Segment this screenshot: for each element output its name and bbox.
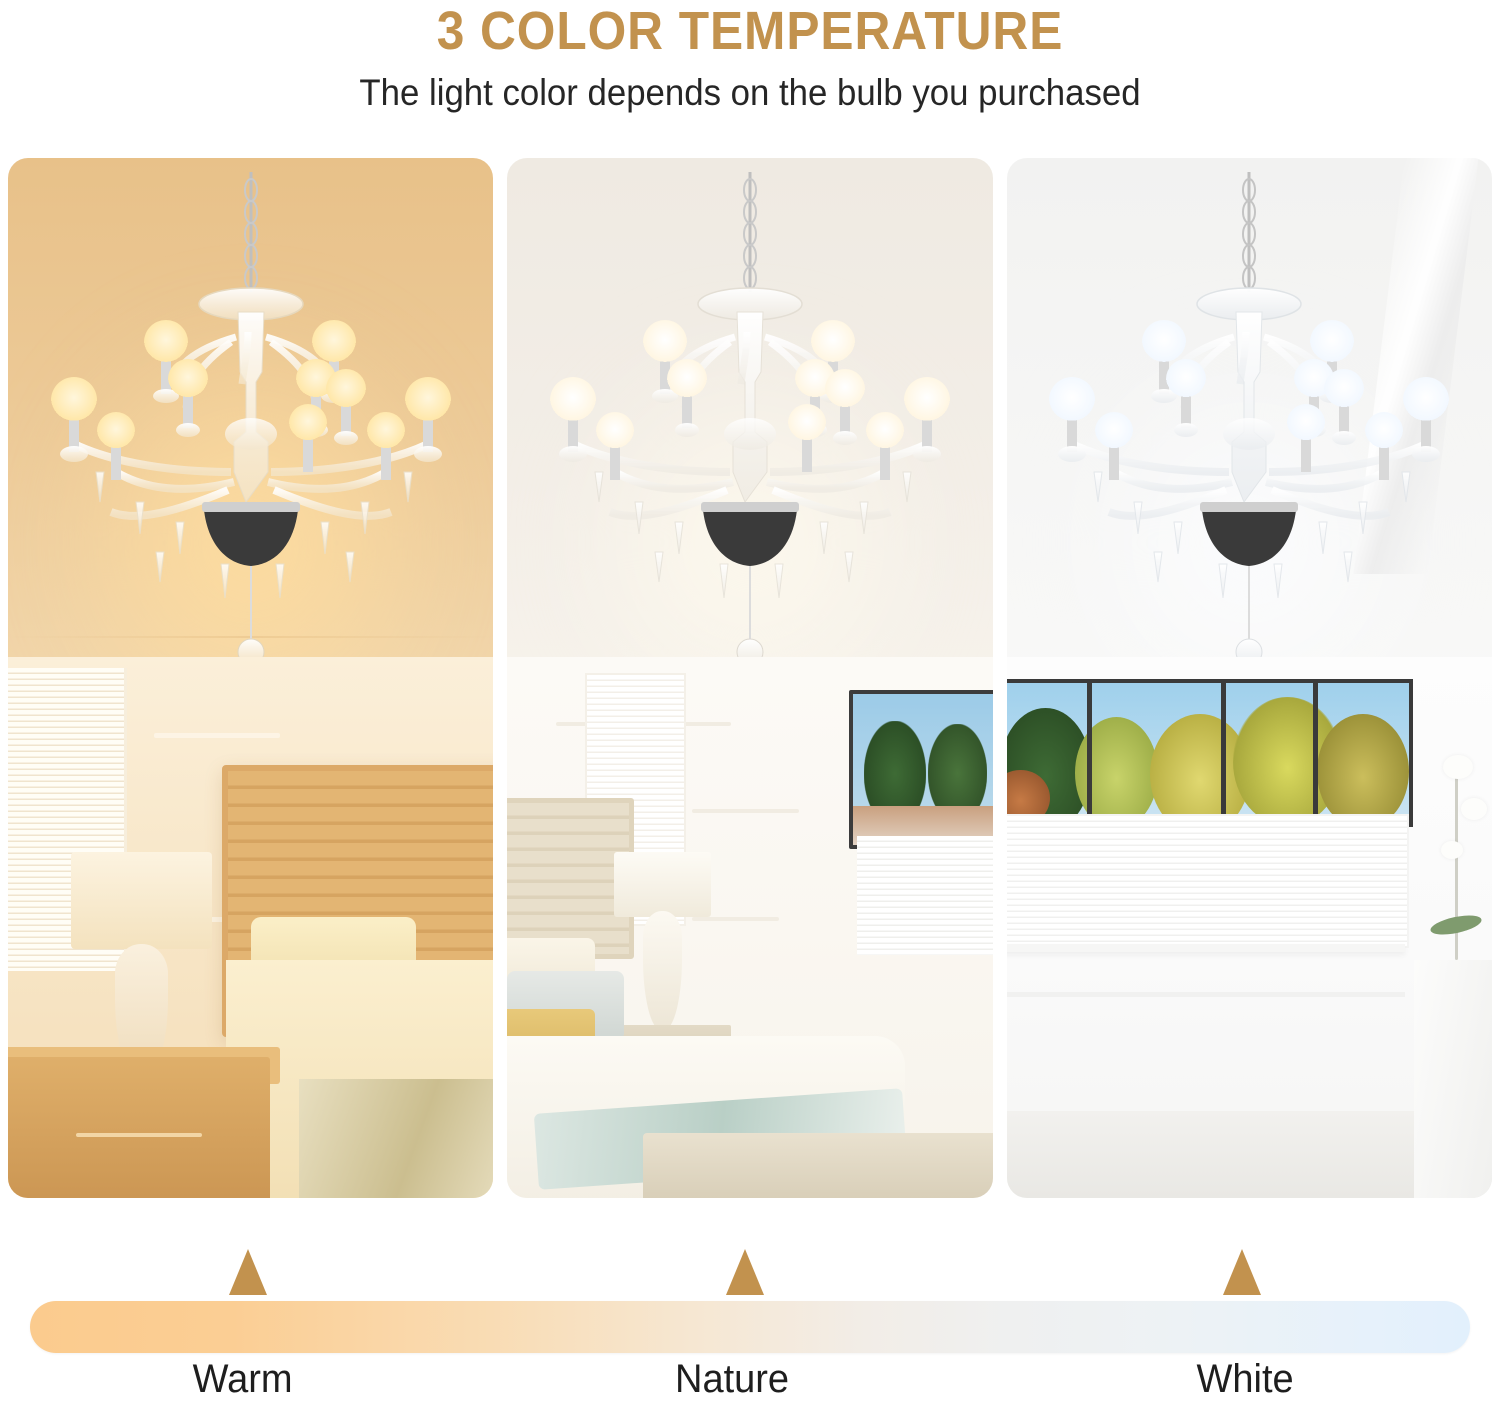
- panel-white: [1007, 158, 1492, 1198]
- nature-bench: [643, 1133, 992, 1198]
- warm-room: [8, 657, 493, 1198]
- white-window-mullion: [1313, 683, 1318, 824]
- panel-warm: [8, 158, 493, 1198]
- chandelier-warm: [16, 172, 486, 737]
- color-temperature-spectrum-bar: [30, 1301, 1470, 1353]
- marker-warm-icon: [229, 1249, 267, 1295]
- white-orchid-flower: [1443, 755, 1473, 779]
- white-room: [1007, 657, 1492, 1198]
- white-window-mullion: [1221, 683, 1226, 824]
- panel-nature: [507, 158, 992, 1198]
- white-cellular-blind: [1007, 814, 1409, 948]
- white-window-tree: [1317, 714, 1409, 828]
- marker-nature-icon: [726, 1249, 764, 1295]
- warm-lamp-shade: [71, 852, 212, 949]
- nature-window-tree: [928, 724, 986, 806]
- page-subtitle: The light color depends on the bulb you …: [45, 60, 1455, 114]
- warm-wall-molding: [154, 733, 280, 738]
- white-orchid-flower: [1441, 841, 1463, 859]
- nature-wall-molding: [692, 917, 779, 921]
- nature-room: [507, 657, 992, 1198]
- white-wainscot-line: [1007, 992, 1405, 997]
- infographic-page: 3 COLOR TEMPERATURE The light color depe…: [0, 0, 1500, 1406]
- warm-bed-throw: [299, 1079, 493, 1198]
- chandelier-white: [1014, 172, 1484, 737]
- white-curtain: [1414, 960, 1492, 1198]
- nature-window: [849, 690, 993, 849]
- color-temperature-panels: [8, 158, 1492, 1198]
- page-title: 3 COLOR TEMPERATURE: [60, 0, 1440, 60]
- label-white: White: [1197, 1356, 1294, 1402]
- marker-white-icon: [1223, 1249, 1261, 1295]
- white-window-sill: [1007, 944, 1405, 952]
- header: 3 COLOR TEMPERATURE The light color depe…: [0, 0, 1500, 114]
- nature-wall-molding: [692, 809, 799, 813]
- white-window-mullion: [1087, 683, 1092, 824]
- warm-drawer-handle: [76, 1133, 202, 1137]
- nature-window-tree: [864, 721, 925, 809]
- nature-lower-blind: [857, 836, 993, 955]
- label-nature: Nature: [675, 1356, 789, 1402]
- white-orchid-flower: [1461, 798, 1487, 820]
- spectrum-labels: Warm Nature White: [0, 1356, 1500, 1406]
- white-picture-window: [1007, 679, 1413, 828]
- nature-lamp-shade: [614, 852, 711, 917]
- label-warm: Warm: [193, 1356, 293, 1402]
- warm-nightstand: [8, 1057, 270, 1198]
- chandelier-nature: [515, 172, 985, 737]
